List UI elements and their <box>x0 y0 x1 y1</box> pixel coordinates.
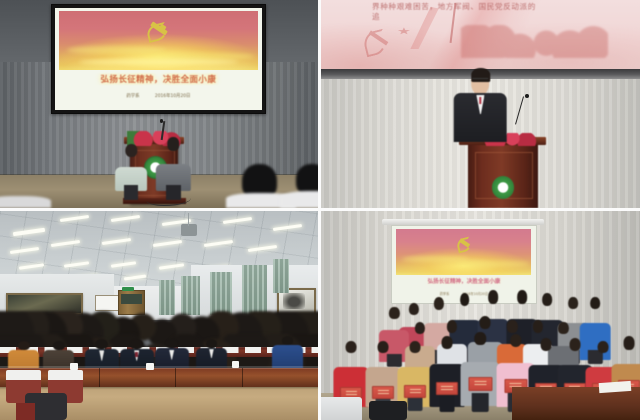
slide-date: 2016年10月20日 <box>155 94 191 99</box>
microphone-head-icon <box>160 119 164 123</box>
slide-department: 药学系 <box>126 94 139 99</box>
projection-screen: 界种种艰难困苦，地方军阀、国民党反动派的 追 <box>321 0 640 69</box>
hammer-and-sickle-icon <box>456 238 472 250</box>
slide-background-image <box>396 229 531 275</box>
slide-background-image <box>59 11 258 70</box>
presentation-slide: 弘扬长征精神，决胜全面小康 药学系 2016年10月20日 <box>55 8 262 110</box>
award-winner <box>465 332 497 409</box>
person-legs <box>124 185 138 200</box>
slide-text-line-2: 追 <box>372 11 380 22</box>
student-host-left <box>118 144 145 200</box>
slide-subtitle: 药学系 2016年10月20日 <box>65 93 251 99</box>
certificate <box>372 386 394 399</box>
slide-department: 药学系 <box>440 292 450 296</box>
award-winner <box>369 341 398 410</box>
window-curtain <box>181 276 200 316</box>
window-curtain <box>273 259 289 292</box>
ceiling-projector <box>181 224 197 237</box>
framed-artwork-image <box>283 293 305 310</box>
foreground-chair <box>321 397 362 420</box>
window-curtain <box>159 280 175 316</box>
school-emblem-icon <box>492 176 514 198</box>
hammer-and-sickle-icon <box>362 30 391 55</box>
foreground-audience-shoulder <box>280 191 318 208</box>
eyeglasses-icon <box>473 78 489 82</box>
window-curtain <box>210 272 232 316</box>
slide-title: 弘扬长征精神，决胜全面小康 <box>398 277 530 285</box>
seat-back-cover <box>6 370 41 380</box>
slide-title: 弘扬长征精神，决胜全面小康 <box>65 73 251 85</box>
paper-cup <box>146 363 154 370</box>
person-legs <box>166 185 180 200</box>
award-winner <box>433 336 462 409</box>
certificate <box>436 382 458 395</box>
march-illustration <box>461 25 608 58</box>
person-head <box>168 137 179 151</box>
seat-back-cover <box>48 370 83 380</box>
desk-highlight <box>0 366 318 369</box>
window-curtain <box>242 265 267 315</box>
paper-cup <box>232 361 239 367</box>
award-winner <box>401 341 430 410</box>
neck-ribbon <box>479 97 481 104</box>
foreground-audience-shoulder <box>0 196 51 208</box>
speaker-person <box>460 69 501 156</box>
photo-collage: 弘扬长征精神，决胜全面小康 药学系 2016年10月20日 <box>0 0 640 420</box>
desk-divider <box>242 368 244 387</box>
photo-top-right: 界种种艰难困苦，地方军阀、国民党反动派的 追 <box>321 0 640 208</box>
door-window <box>121 294 141 305</box>
foreground-seat-red <box>16 403 35 420</box>
hammer-and-sickle-icon <box>144 23 170 38</box>
exit-sign <box>122 287 133 291</box>
person-head <box>125 144 136 157</box>
microphone-head-icon <box>525 94 529 98</box>
certificate <box>404 385 426 398</box>
foreground-equipment <box>369 401 407 420</box>
projector-mount <box>188 213 190 226</box>
photo-bottom-right: 弘扬长征精神，决胜全面小康 药学系 2016年10月20日 <box>321 211 640 420</box>
projection-screen: 弘扬长征精神，决胜全面小康 药学系 2016年10月20日 <box>55 8 262 110</box>
certificate <box>469 377 492 391</box>
desk-divider <box>99 368 101 387</box>
desk-divider <box>175 368 177 387</box>
photo-bottom-left <box>0 211 318 420</box>
slide-text-line-1: 界种种艰难困苦，地方军阀、国民党反动派的 <box>372 1 640 12</box>
projection-screen-frame: 弘扬长征精神，决胜全面小康 药学系 2016年10月20日 <box>51 4 266 114</box>
photo-top-left: 弘扬长征精神，决胜全面小康 药学系 2016年10月20日 <box>0 0 318 208</box>
student-host-right <box>159 137 188 199</box>
paper-cup <box>70 363 78 370</box>
